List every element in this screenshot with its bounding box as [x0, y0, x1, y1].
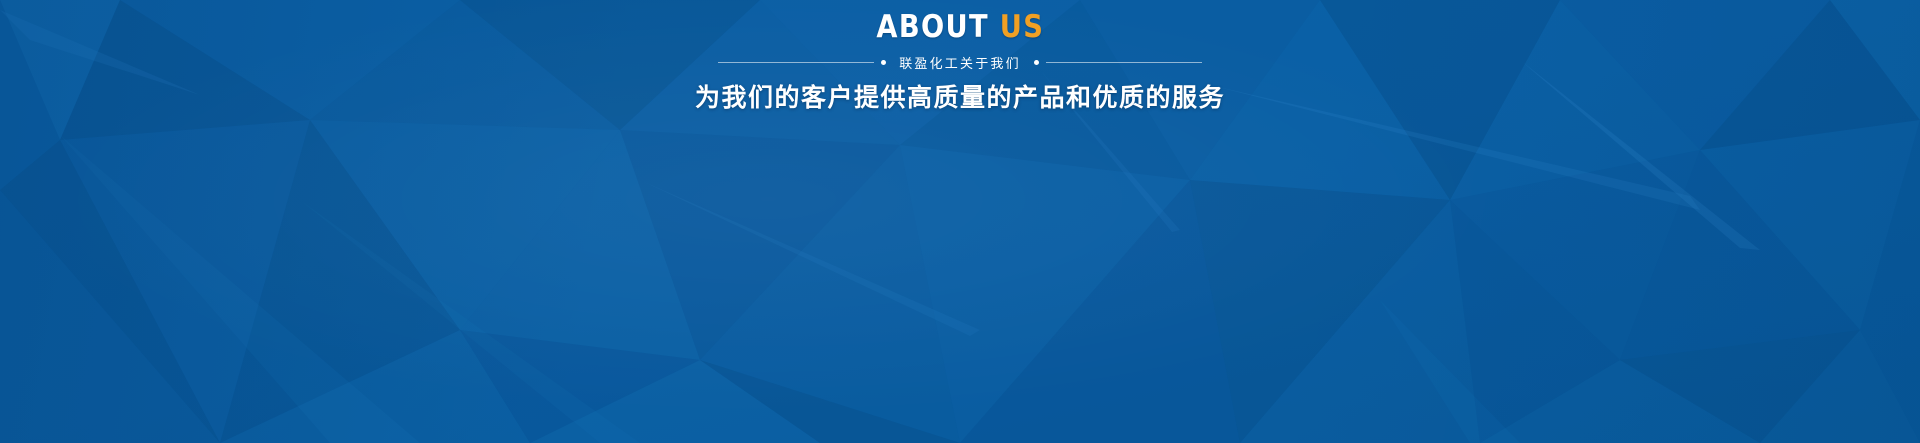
subtitle-divider-row: 联盈化工关于我们 [0, 53, 1920, 72]
page-title: ABOUT US [876, 11, 1044, 44]
page-title-accent: US [999, 9, 1043, 45]
about-us-banner: ABOUT US 联盈化工关于我们 为我们的客户提供高质量的产品和优质的服务 [0, 0, 1920, 443]
dot-marker-right-icon [1034, 60, 1039, 65]
dot-marker-left-icon [881, 60, 886, 65]
divider-line-left [718, 62, 874, 63]
divider-line-right [1046, 62, 1202, 63]
banner-content: ABOUT US 联盈化工关于我们 为我们的客户提供高质量的产品和优质的服务 [0, 0, 1920, 114]
subtitle-text: 联盈化工关于我们 [893, 53, 1027, 72]
headline-text: 为我们的客户提供高质量的产品和优质的服务 [0, 78, 1920, 114]
page-title-primary: ABOUT [876, 9, 988, 45]
